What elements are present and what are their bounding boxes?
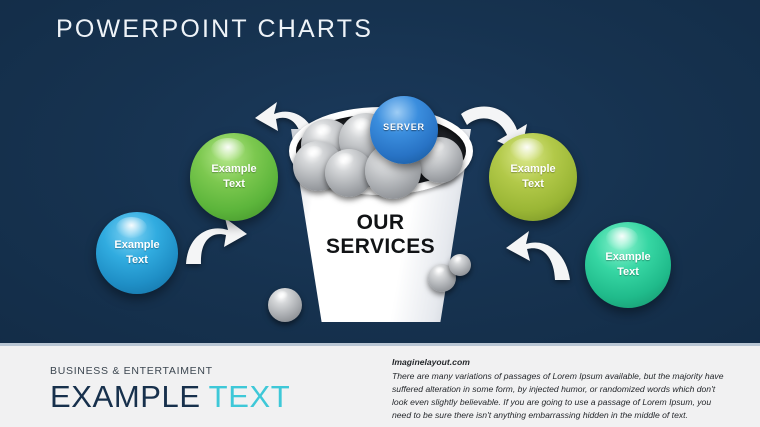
footer-left-block: BUSINESS & ENTERTAIMENT EXAMPLETEXT: [50, 365, 290, 412]
loose-ball: [268, 288, 302, 322]
node-example-text-lower-left[interactable]: Example Text: [96, 212, 178, 294]
cup-label: OUR SERVICES: [283, 211, 478, 258]
node-label-line1: Example: [605, 250, 650, 265]
node-label-line2: Text: [126, 253, 148, 268]
node-label-line1: Example: [211, 162, 256, 177]
node-example-text-lower-right[interactable]: Example Text: [585, 222, 671, 308]
node-example-text-upper-right[interactable]: Example Text: [489, 133, 577, 221]
curved-arrow-up-left-icon: [504, 228, 574, 286]
cup-label-line2: SERVICES: [283, 235, 478, 259]
brand-label: Imaginelayout.com: [392, 356, 732, 369]
footer-body-text: There are many variations of passages of…: [392, 371, 724, 420]
server-ball-label: SERVER: [383, 122, 425, 132]
curved-arrow-up-right-icon: [184, 214, 250, 272]
slide-footer: BUSINESS & ENTERTAIMENT EXAMPLETEXT Imag…: [0, 346, 760, 427]
footer-eyebrow: BUSINESS & ENTERTAIMENT: [50, 365, 290, 377]
node-label-line2: Text: [617, 265, 639, 280]
sphere-highlight-icon: [116, 217, 147, 238]
footer-headline-accent: TEXT: [209, 379, 291, 414]
node-label-line2: Text: [522, 177, 544, 192]
server-ball[interactable]: SERVER: [370, 96, 438, 164]
sphere-highlight-icon: [510, 138, 543, 161]
node-label-line1: Example: [510, 162, 555, 177]
loose-ball: [449, 254, 471, 276]
footer-headline-dark: EXAMPLE: [50, 379, 201, 414]
page-title: POWERPOINT CHARTS: [56, 15, 373, 44]
sphere-highlight-icon: [606, 227, 639, 249]
slide-canvas: POWERPOINT CHARTS SERVER: [0, 0, 760, 427]
node-label-line1: Example: [114, 238, 159, 253]
node-label-line2: Text: [223, 177, 245, 192]
footer-headline: EXAMPLETEXT: [50, 381, 290, 412]
sphere-highlight-icon: [211, 138, 244, 161]
node-example-text-upper-left[interactable]: Example Text: [190, 133, 278, 221]
cup-label-line1: OUR: [283, 211, 478, 235]
footer-description-block: Imaginelayout.com There are many variati…: [392, 356, 732, 422]
